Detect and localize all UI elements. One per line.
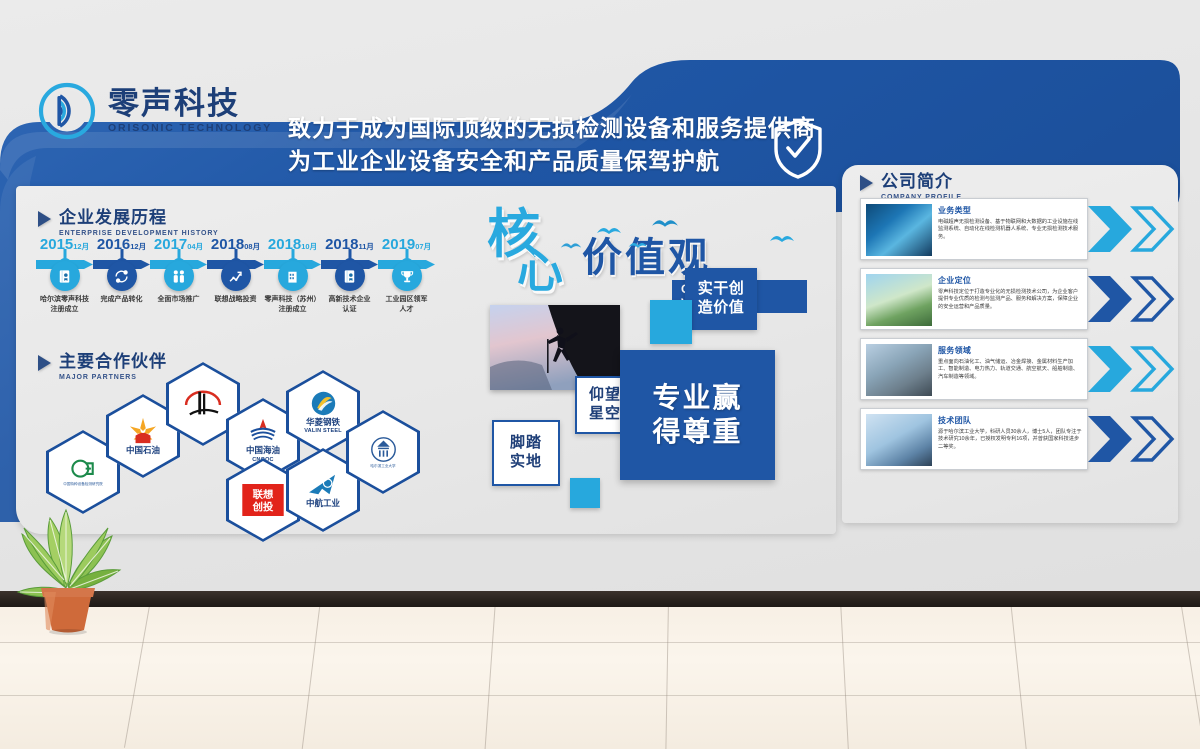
- timeline-item-label: 工业园区领军: [375, 295, 439, 305]
- team-silhouette-photo: [866, 414, 932, 466]
- growth-chart-icon: [221, 261, 251, 291]
- timeline-item-label: 注册成立: [261, 305, 325, 315]
- shield-check-icon: [772, 118, 824, 180]
- decor-square-cyan: [650, 300, 692, 344]
- certificate-icon: [335, 261, 365, 291]
- timeline-item-label: 认证: [318, 305, 382, 315]
- certificate-icon: [50, 261, 80, 291]
- company-logo[interactable]: 零声科技 ORISONIC TECHNOLOGY: [38, 82, 272, 140]
- potted-plant: [8, 470, 128, 635]
- partner-name-cn: 哈尔滨工业大学: [370, 464, 395, 468]
- timeline-item[interactable]: 201704月 全面市场推广: [150, 236, 207, 271]
- baseboard-strip: [0, 591, 1200, 607]
- trophy-icon: [392, 261, 422, 291]
- value-box-jiaota-text: 脚踏实地: [510, 434, 542, 472]
- headline-line-1: 致力于成为国际顶级的无损检测设备和服务提供商: [288, 112, 758, 145]
- value-box-jiaota: 脚踏实地: [492, 420, 560, 486]
- bird-icon: [560, 240, 582, 251]
- bird-icon: [628, 240, 648, 250]
- timeline-month: 12月: [130, 242, 146, 251]
- bird-icon: [769, 232, 795, 245]
- development-timeline: 201512月 哈尔滨零声科技注册成立201612月 完成产品转化201704月: [36, 236, 436, 336]
- timeline-item-label: 零声科技（苏州）: [261, 295, 325, 305]
- profile-card[interactable]: 企业定位 零声科技定位于打造专业化的无损检测技术公司，为企业客户提供专业优质的检…: [860, 268, 1088, 330]
- timeline-month: 08月: [244, 242, 260, 251]
- timeline-item[interactable]: 201907月 工业园区领军人才: [378, 236, 435, 271]
- headline-slogan: 致力于成为国际顶级的无损检测设备和服务提供商 为工业企业设备安全和产品质量保驾护…: [288, 112, 758, 177]
- profile-card-text: 重点面向石油化工、油气储运、冶金焊接、金属材料生产加工、智能制造、电力热力、轨道…: [938, 359, 1082, 383]
- profile-card-title: 企业定位: [938, 275, 1082, 286]
- profile-card-title: 服务领域: [938, 345, 1082, 356]
- building-icon: [278, 261, 308, 291]
- city-skyline-photo: [866, 274, 932, 326]
- timeline-item-label: 高新技术企业: [318, 295, 382, 305]
- core-values-title: 核 心 价值观 CORE VALUES: [487, 208, 807, 298]
- timeline-item[interactable]: 201811月 高新技术企业认证: [321, 236, 378, 271]
- triangle-bullet-icon: [860, 175, 873, 191]
- bird-icon: [651, 216, 679, 230]
- timeline-month: 10月: [301, 242, 317, 251]
- history-title-cn: 企业发展历程: [59, 208, 219, 228]
- timeline-month: 07月: [415, 242, 431, 251]
- tiled-floor: [0, 600, 1200, 749]
- chevron-arrow-pair: [1088, 346, 1184, 392]
- svg-text:创投: 创投: [252, 500, 274, 513]
- svg-text:联想: 联想: [253, 488, 274, 501]
- industrial-machinery-photo: [866, 204, 932, 256]
- profile-title-cn: 公司简介: [881, 172, 962, 192]
- core-values-char-xin: 心: [517, 248, 561, 294]
- people-icon: [164, 261, 194, 291]
- value-box-shigan-text: 实干创造价值: [698, 280, 745, 318]
- triangle-bullet-icon: [38, 355, 51, 371]
- timeline-item-label: 人才: [375, 305, 439, 315]
- logo-name-cn: 零声科技: [108, 88, 272, 121]
- chevron-arrow-pair: [1088, 276, 1184, 322]
- timeline-item-label: 联想战略投资: [204, 295, 268, 305]
- profile-card-title: 技术团队: [938, 415, 1082, 426]
- decor-square-cyan: [570, 478, 600, 508]
- chevron-arrow-pair: [1088, 206, 1184, 252]
- profile-card[interactable]: 业务类型 电磁超声无损检测设备、基于物联网和大数据的工业设施在线监测系统、自动化…: [860, 198, 1088, 260]
- timeline-item[interactable]: 201808月 联想战略投资: [207, 236, 264, 271]
- partner-name-en: VALIN STEEL: [304, 428, 342, 434]
- timeline-item-label: 注册成立: [33, 305, 97, 315]
- value-box-zhuanye-text: 专业赢得尊重: [652, 381, 742, 449]
- bird-icon: [596, 224, 622, 237]
- profile-card-text: 源于哈尔滨工业大学，科研人员30余人，博士5人，团队专注于技术研究10余年，已授…: [938, 429, 1082, 453]
- headline-line-2: 为工业企业设备安全和产品质量保驾护航: [288, 145, 758, 178]
- culture-wall-scene: 零声科技 ORISONIC TECHNOLOGY 致力于成为国际顶级的无损检测设…: [0, 0, 1200, 749]
- value-box-yangwang-text: 仰望星空: [589, 386, 621, 424]
- sound-wave-circle-icon: [38, 82, 96, 140]
- timeline-item-label: 全面市场推广: [147, 295, 211, 305]
- profile-card[interactable]: 服务领域 重点面向石油化工、油气储运、冶金焊接、金属材料生产加工、智能制造、电力…: [860, 338, 1088, 400]
- profile-card-title: 业务类型: [938, 205, 1082, 216]
- timeline-item-label: 完成产品转化: [90, 295, 154, 305]
- partner-name-cn: 中航工业: [306, 499, 340, 508]
- value-box-shigan: 实干创造价值: [685, 268, 757, 330]
- timeline-item[interactable]: 201512月 哈尔滨零声科技注册成立: [36, 236, 93, 271]
- profile-card-text: 零声科技定位于打造专业化的无损检测技术公司，为企业客户提供专业优质的检测与监测产…: [938, 289, 1082, 313]
- partner-name-cn: 华菱钢铁: [306, 418, 340, 427]
- partner-name-cn: 中国石油: [126, 446, 160, 455]
- logo-name-en: ORISONIC TECHNOLOGY: [108, 122, 272, 134]
- gear-cycle-icon: [107, 261, 137, 291]
- refinery-plant-photo: [866, 344, 932, 396]
- timeline-month: 04月: [187, 242, 203, 251]
- timeline-item[interactable]: 201810月 零声科技（苏州）注册成立: [264, 236, 321, 271]
- timeline-month: 11月: [358, 242, 373, 251]
- partners-title-cn: 主要合作伙伴: [59, 352, 167, 372]
- history-section-header: 企业发展历程 ENTERPRISE DEVELOPMENT HISTORY: [38, 208, 219, 237]
- timeline-item-label: 哈尔滨零声科技: [33, 295, 97, 305]
- triangle-bullet-icon: [38, 211, 51, 227]
- chevron-arrow-pair: [1088, 416, 1184, 462]
- profile-section-header: 公司简介 COMPANY PROFILE: [860, 172, 962, 201]
- profile-card-text: 电磁超声无损检测设备、基于物联网和大数据的工业设施在线监测系统、自动化在线检测机…: [938, 219, 1082, 243]
- value-box-zhuanye: 专业赢得尊重: [620, 350, 775, 480]
- timeline-month: 12月: [73, 242, 89, 251]
- partner-name-cn: 中国海油: [246, 446, 280, 455]
- company-profile-cards: 业务类型 电磁超声无损检测设备、基于物联网和大数据的工业设施在线监测系统、自动化…: [860, 198, 1090, 478]
- timeline-item[interactable]: 201612月 完成产品转化: [93, 236, 150, 271]
- profile-card[interactable]: 技术团队 源于哈尔滨工业大学，科研人员30余人，博士5人，团队专注于技术研究10…: [860, 408, 1088, 470]
